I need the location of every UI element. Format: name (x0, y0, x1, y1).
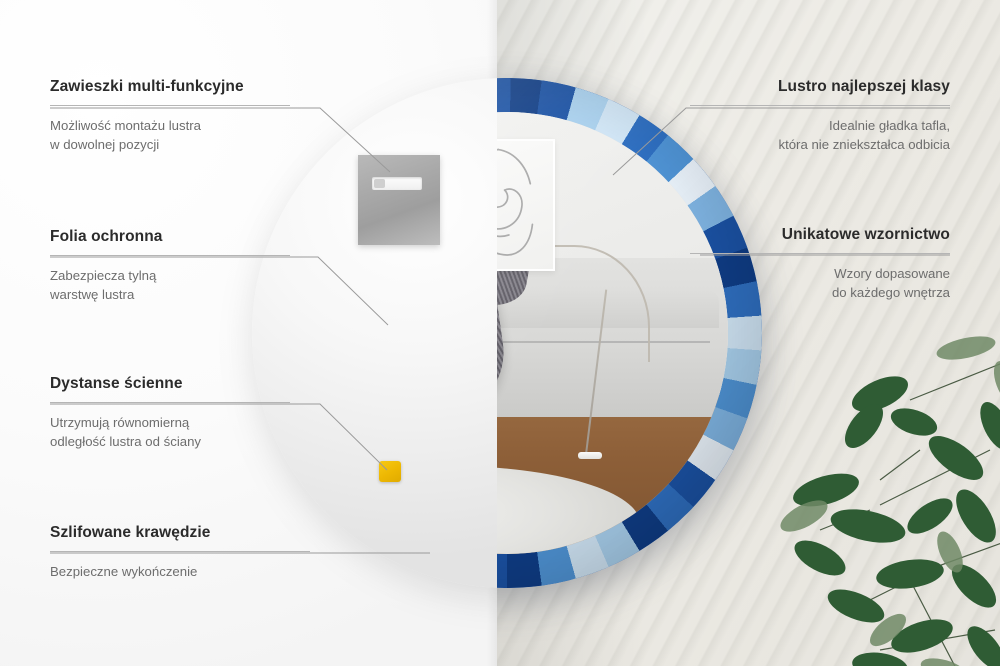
callout-spacers-desc-l2: odległość lustra od ściany (50, 434, 201, 449)
callout-hangers-title: Zawieszki multi-funkcyjne (50, 78, 290, 96)
callout-hangers: Zawieszki multi-funkcyjne Możliwość mont… (50, 78, 290, 154)
callout-edges-desc: Bezpieczne wykończenie (50, 563, 310, 582)
callout-quality-glass-title: Lustro najlepszej klasy (690, 78, 950, 96)
callout-foil-desc: Zabezpiecza tylnąwarstwę lustra (50, 267, 290, 304)
callout-quality-glass-desc-l2: która nie zniekształca odbicia (778, 137, 950, 152)
callout-spacers-rule (50, 402, 290, 403)
infographic-canvas: Zawieszki multi-funkcyjne Możliwość mont… (0, 0, 1000, 666)
callout-quality-glass: Lustro najlepszej klasy Idealnie gładka … (690, 78, 950, 154)
callout-quality-glass-rule (690, 105, 950, 106)
callout-foil: Folia ochronna Zabezpiecza tylnąwarstwę … (50, 228, 290, 304)
callout-edges: Szlifowane krawędzie Bezpieczne wykończe… (50, 524, 310, 582)
callout-design-desc: Wzory dopasowanedo każdego wnętrza (690, 265, 950, 302)
callout-design-desc-l1: Wzory dopasowane (834, 266, 950, 281)
face-line-art-icon (497, 141, 553, 269)
callout-design: Unikatowe wzornictwo Wzory dopasowanedo … (690, 226, 950, 302)
callout-hangers-rule (50, 105, 290, 106)
reflected-lamp-base (578, 452, 602, 459)
callout-edges-rule (50, 551, 310, 552)
callout-spacers: Dystanse ścienne Utrzymują równomiernąod… (50, 375, 290, 451)
callout-hangers-desc-l2: w dowolnej pozycji (50, 137, 159, 152)
callout-edges-title: Szlifowane krawędzie (50, 524, 310, 542)
callout-design-rule (690, 253, 950, 254)
mounting-bracket (358, 155, 440, 245)
callout-spacers-title: Dystanse ścienne (50, 375, 290, 393)
callout-hangers-desc: Możliwość montażu lustraw dowolnej pozyc… (50, 117, 290, 154)
callout-design-desc-l2: do każdego wnętrza (832, 285, 950, 300)
callout-foil-desc-l2: warstwę lustra (50, 287, 134, 302)
mirror-glass (497, 112, 728, 554)
callout-foil-title: Folia ochronna (50, 228, 290, 246)
callout-hangers-desc-l1: Możliwość montażu lustra (50, 118, 201, 133)
reflected-line-art-picture (497, 139, 555, 271)
callout-quality-glass-desc: Idealnie gładka tafla,która nie zniekszt… (690, 117, 950, 154)
wall-spacer (379, 461, 401, 482)
callout-design-title: Unikatowe wzornictwo (690, 226, 950, 244)
round-mirror (497, 78, 762, 588)
keyhole-slot-icon (372, 177, 422, 190)
callout-foil-rule (50, 255, 290, 256)
callout-foil-desc-l1: Zabezpiecza tylną (50, 268, 156, 283)
callout-spacers-desc-l1: Utrzymują równomierną (50, 415, 189, 430)
callout-quality-glass-desc-l1: Idealnie gładka tafla, (829, 118, 950, 133)
callout-spacers-desc: Utrzymują równomiernąodległość lustra od… (50, 414, 290, 451)
